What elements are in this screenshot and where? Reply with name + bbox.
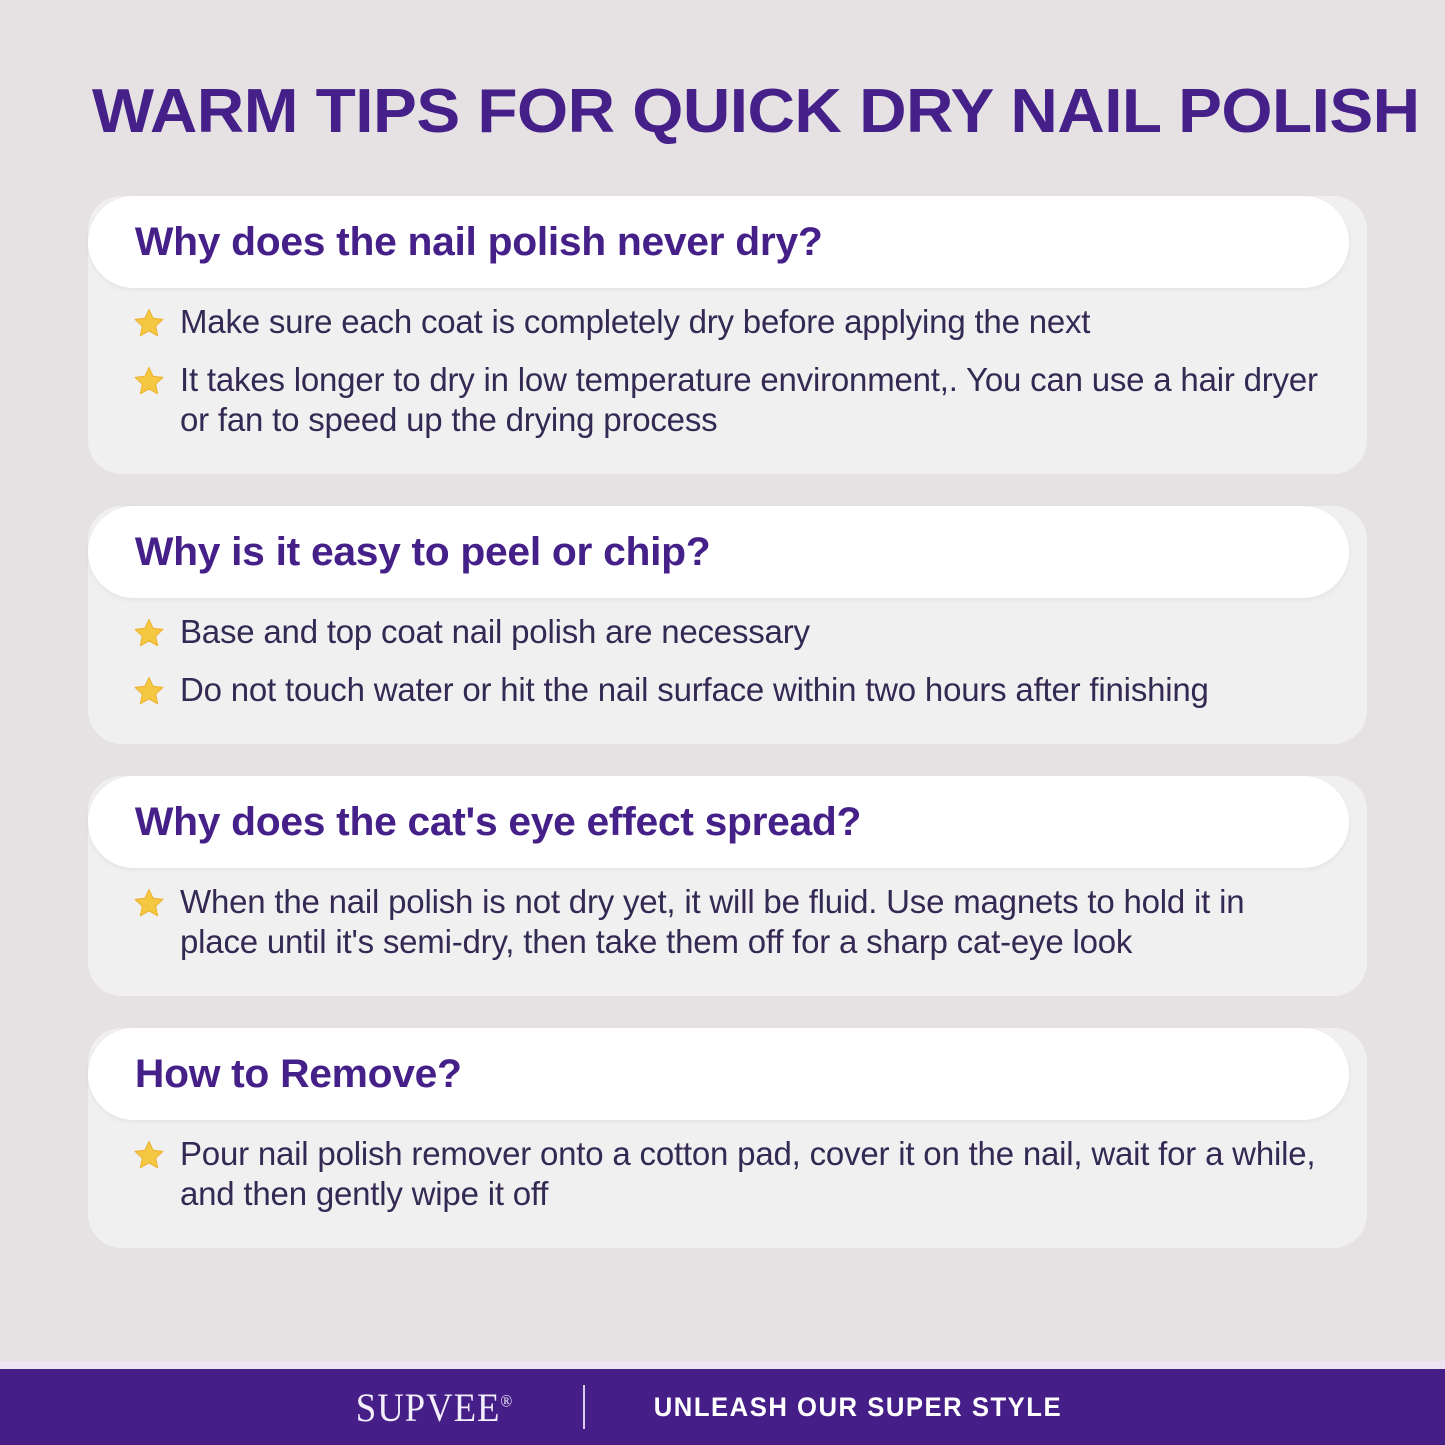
- brand-name: SUPVEE: [355, 1385, 500, 1430]
- list-item: Base and top coat nail polish are necess…: [134, 612, 1321, 652]
- tip-card-body: Why is it easy to peel or chip? Base and…: [88, 506, 1367, 744]
- tip-card-header: Why does the nail polish never dry?: [88, 196, 1349, 288]
- tips-card-list: Why does the nail polish never dry? Make…: [0, 196, 1445, 1280]
- tip-card: Why does the cat's eye effect spread? Wh…: [0, 776, 1445, 996]
- page-title: WARM TIPS FOR QUICK DRY NAIL POLISH: [92, 78, 1445, 146]
- tip-card-body: Why does the nail polish never dry? Make…: [88, 196, 1367, 474]
- tip-bullet-list: Make sure each coat is completely dry be…: [134, 302, 1321, 440]
- list-item-text: When the nail polish is not dry yet, it …: [180, 882, 1321, 962]
- footer-bar: SUPVEE® UNLEASH OUR SUPER STYLE: [0, 1369, 1445, 1445]
- tip-bullet-list: Base and top coat nail polish are necess…: [134, 612, 1321, 710]
- star-icon: [134, 676, 164, 706]
- tip-card-title: How to Remove?: [88, 1052, 462, 1096]
- tip-card-body: Why does the cat's eye effect spread? Wh…: [88, 776, 1367, 996]
- list-item: Make sure each coat is completely dry be…: [134, 302, 1321, 342]
- footer-divider: [583, 1385, 585, 1429]
- tip-card-title: Why does the nail polish never dry?: [88, 220, 822, 264]
- list-item: Do not touch water or hit the nail surfa…: [134, 670, 1321, 710]
- tip-card-title: Why is it easy to peel or chip?: [88, 530, 710, 574]
- tip-bullet-list: Pour nail polish remover onto a cotton p…: [134, 1134, 1321, 1214]
- tip-card: Why does the nail polish never dry? Make…: [0, 196, 1445, 474]
- brand-tagline: UNLEASH OUR SUPER STYLE: [653, 1392, 1061, 1423]
- brand-logo: SUPVEE®: [355, 1384, 511, 1431]
- list-item-text: Do not touch water or hit the nail surfa…: [180, 670, 1209, 710]
- star-icon: [134, 308, 164, 338]
- list-item: When the nail polish is not dry yet, it …: [134, 882, 1321, 962]
- list-item-text: Base and top coat nail polish are necess…: [180, 612, 810, 652]
- list-item: Pour nail polish remover onto a cotton p…: [134, 1134, 1321, 1214]
- infographic-page: WARM TIPS FOR QUICK DRY NAIL POLISH Why …: [0, 0, 1445, 1445]
- list-item-text: Pour nail polish remover onto a cotton p…: [180, 1134, 1321, 1214]
- star-icon: [134, 618, 164, 648]
- tip-card: Why is it easy to peel or chip? Base and…: [0, 506, 1445, 744]
- tip-card-header: How to Remove?: [88, 1028, 1349, 1120]
- tip-card-body: How to Remove? Pour nail polish remover …: [88, 1028, 1367, 1248]
- star-icon: [134, 366, 164, 396]
- brand-lockup: SUPVEE® UNLEASH OUR SUPER STYLE: [349, 1384, 1073, 1431]
- tip-card: How to Remove? Pour nail polish remover …: [0, 1028, 1445, 1248]
- tip-bullet-list: When the nail polish is not dry yet, it …: [134, 882, 1321, 962]
- tip-card-header: Why is it easy to peel or chip?: [88, 506, 1349, 598]
- list-item-text: It takes longer to dry in low temperatur…: [180, 360, 1321, 440]
- tip-card-title: Why does the cat's eye effect spread?: [88, 800, 861, 844]
- list-item-text: Make sure each coat is completely dry be…: [180, 302, 1090, 342]
- footer-hairline: [0, 1361, 1445, 1369]
- tip-card-header: Why does the cat's eye effect spread?: [88, 776, 1349, 868]
- list-item: It takes longer to dry in low temperatur…: [134, 360, 1321, 440]
- star-icon: [134, 888, 164, 918]
- registered-trademark-icon: ®: [500, 1391, 512, 1410]
- star-icon: [134, 1140, 164, 1170]
